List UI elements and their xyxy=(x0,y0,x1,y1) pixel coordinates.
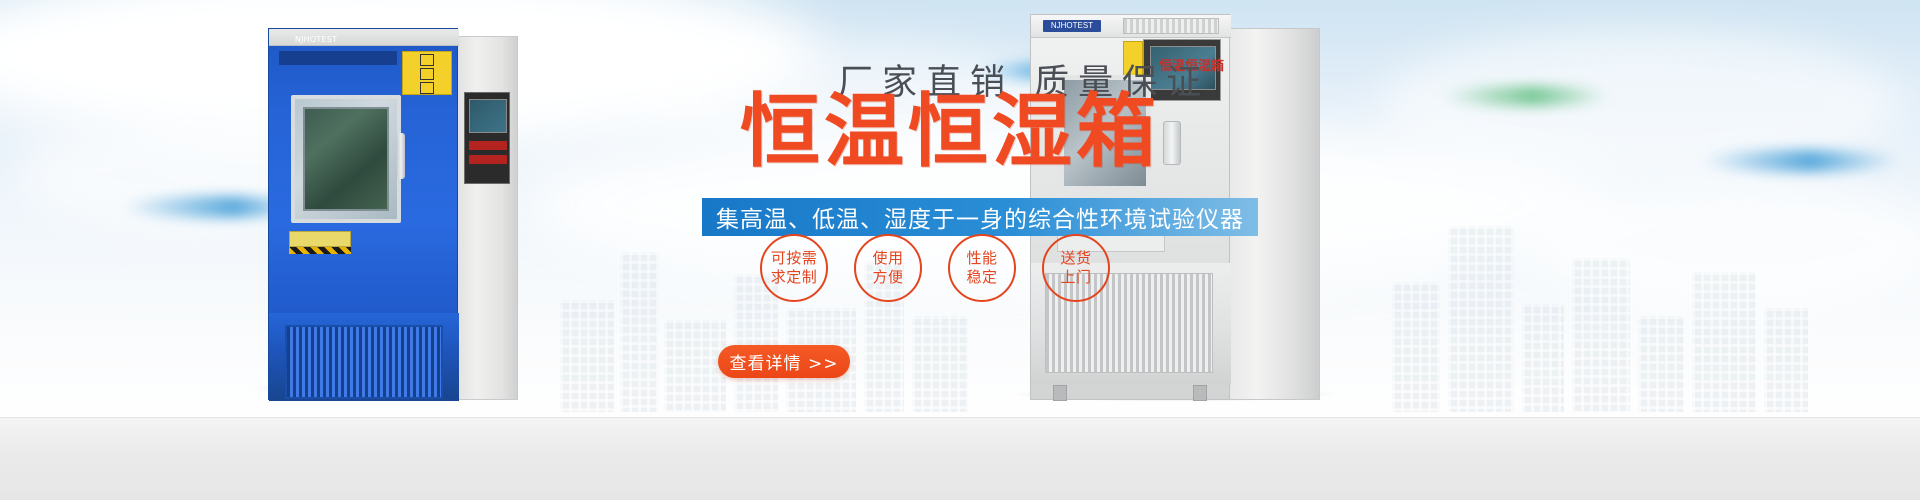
feature-badge-stable[interactable]: 性能 稳定 xyxy=(948,234,1016,302)
banner-headline: 恒温恒湿箱 xyxy=(740,92,1160,172)
feature-badge-delivery-line1: 送货 xyxy=(1060,249,1091,268)
feature-badge-custom-line1: 可按需 xyxy=(771,249,818,268)
feature-badge-custom[interactable]: 可按需 求定制 xyxy=(760,234,828,302)
feature-badge-delivery[interactable]: 送货 上门 xyxy=(1042,234,1110,302)
feature-badge-easy-use[interactable]: 使用 方便 xyxy=(854,234,922,302)
feature-badge-easy-use-line2: 方便 xyxy=(872,268,903,287)
view-details-button[interactable]: 查看详情 >> xyxy=(718,345,850,378)
feature-badge-stable-line1: 性能 xyxy=(966,249,997,268)
banner-subtitle-text: 集高温、低温、湿度于一身的综合性环境试验仪器 xyxy=(716,200,1244,234)
feature-badge-custom-line2: 求定制 xyxy=(771,268,818,287)
feature-badge-easy-use-line1: 使用 xyxy=(872,249,903,268)
feature-badge-delivery-line2: 上门 xyxy=(1060,268,1091,287)
feature-badge-stable-line2: 稳定 xyxy=(966,268,997,287)
banner-subtitle-bar: 集高温、低温、湿度于一身的综合性环境试验仪器 xyxy=(702,198,1258,236)
promo-banner: NJHOTEST NJHOTEST 恒温恒湿箱 xyxy=(0,0,1920,500)
feature-badge-group: 可按需 求定制 使用 方便 性能 稳定 送货 上门 xyxy=(760,234,1180,314)
banner-copy: 厂家直销 质量保证 恒温恒湿箱 集高温、低温、湿度于一身的综合性环境试验仪器 可… xyxy=(0,0,1920,500)
